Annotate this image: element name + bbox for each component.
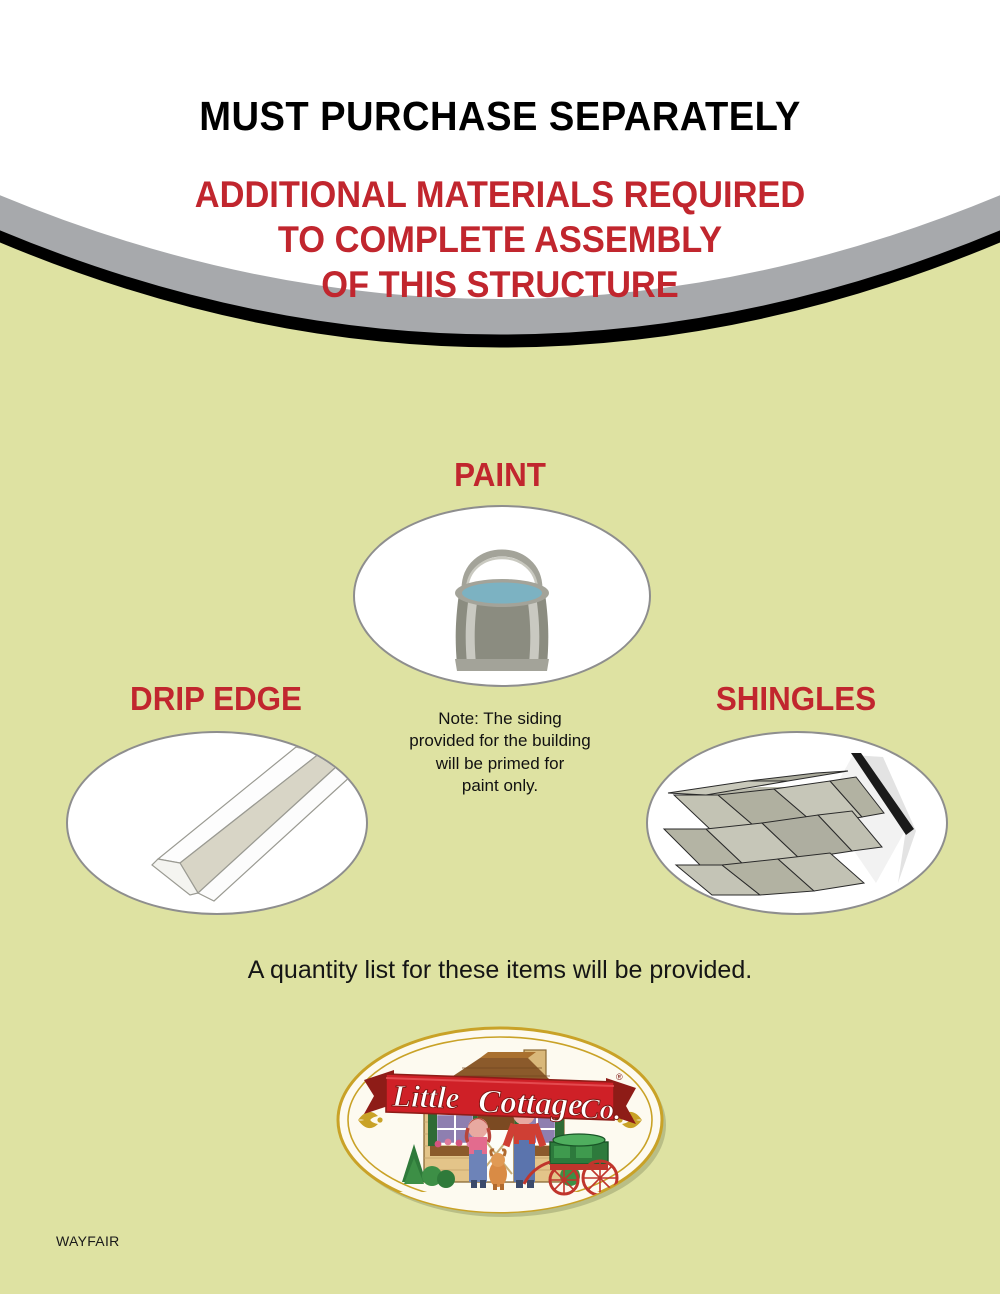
logo-shutter-left (428, 1112, 437, 1146)
logo-graphic: Little Cottage Co. ® (328, 1022, 672, 1218)
item-oval-shingles (646, 731, 948, 915)
little-cottage-co-logo: Little Cottage Co. ® (328, 1022, 672, 1218)
item-label-drip-edge: DRIP EDGE (68, 682, 364, 715)
logo-roof-ridge (480, 1052, 536, 1058)
item-label-shingles: SHINGLES (648, 682, 944, 715)
paint-note-text: Note: The siding provided for the buildi… (370, 708, 630, 798)
header-text-group: MUST PURCHASE SEPARATELY ADDITIONAL MATE… (0, 0, 1000, 307)
wayfair-watermark: WAYFAIR (56, 1233, 120, 1249)
paint-note-line-1: Note: The siding (370, 708, 630, 730)
headline-red-line-3: OF THIS STRUCTURE (35, 263, 965, 308)
paint-can-icon (355, 507, 649, 685)
quantity-list-note: A quantity list for these items will be … (0, 956, 1000, 985)
paint-note-line-2: provided for the building (370, 730, 630, 752)
shingles-icon (648, 733, 946, 913)
item-oval-paint (353, 505, 651, 687)
item-oval-drip-edge (66, 731, 368, 915)
paint-liquid-surface (462, 583, 542, 604)
logo-word-cottage: Cottage (478, 1084, 584, 1124)
logo-registered-mark: ® (616, 1072, 623, 1082)
shingle-tile (748, 771, 848, 781)
logo-word-little: Little (391, 1078, 461, 1115)
headline-red-line-2: TO COMPLETE ASSEMBLY (35, 218, 965, 263)
logo-word-co: Co. (580, 1093, 622, 1126)
logo-shrub (437, 1170, 455, 1188)
drip-edge-icon (68, 733, 366, 913)
paint-note-line-4: paint only. (370, 775, 630, 797)
headline-red-line-1: ADDITIONAL MATERIALS REQUIRED (35, 173, 965, 218)
headline-must-purchase: MUST PURCHASE SEPARATELY (35, 0, 965, 137)
header-banner: MUST PURCHASE SEPARATELY ADDITIONAL MATE… (0, 0, 1000, 430)
headline-additional-materials: ADDITIONAL MATERIALS REQUIRED TO COMPLET… (35, 137, 965, 307)
paint-can-base (455, 659, 549, 671)
logo-child-girl (467, 1118, 490, 1188)
paint-note-line-3: will be primed for (370, 753, 630, 775)
item-label-paint: PAINT (358, 458, 643, 491)
